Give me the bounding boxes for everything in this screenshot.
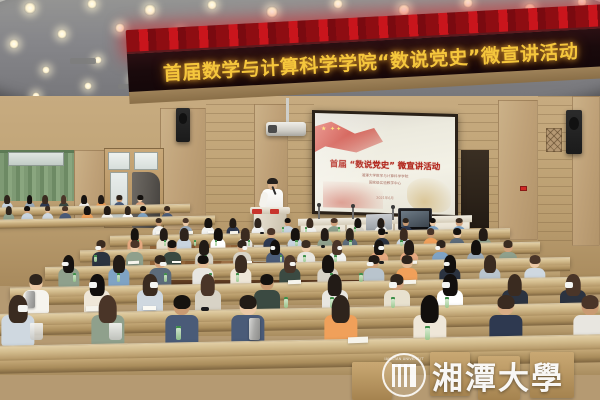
wall-grille	[546, 128, 562, 152]
water-bottle	[305, 227, 307, 233]
audience-hair	[507, 274, 522, 296]
face-mask	[442, 282, 450, 287]
audience-hair	[404, 240, 414, 255]
drink-cup	[109, 323, 122, 340]
flag-stars-icon: ★ ✦✦	[321, 125, 342, 133]
water-bottle	[359, 273, 362, 282]
downlight-icon	[115, 23, 125, 33]
audience-hair	[479, 228, 487, 241]
audience-hair	[5, 195, 11, 204]
notebook	[348, 337, 368, 344]
audience-hair	[267, 228, 275, 234]
audience-hair	[140, 206, 146, 211]
lectern-top	[250, 207, 290, 214]
audience-hair	[164, 206, 170, 211]
audience-hair	[254, 218, 261, 229]
projection-screen: ★ ✦✦ 首届 “数说党史” 微宣讲活动 湘潭大学数学与计算科学学院 国家级实验…	[315, 113, 455, 215]
face-mask	[435, 246, 440, 250]
audience-hair	[125, 206, 131, 216]
water-bottle	[176, 326, 181, 340]
desk-microphone	[392, 208, 394, 220]
face-mask	[379, 246, 384, 250]
ceiling-vent	[70, 58, 96, 64]
face-mask	[95, 246, 100, 250]
water-bottle	[303, 255, 306, 262]
auditorium-chair	[530, 352, 574, 398]
paper-sheet	[143, 306, 156, 310]
audience-hair	[62, 206, 68, 211]
desk-microphone	[318, 206, 320, 219]
face-mask	[337, 246, 342, 250]
face-mask	[242, 246, 247, 250]
audience-hair	[180, 228, 188, 241]
projector	[266, 122, 306, 136]
audience-hair	[306, 218, 313, 229]
audience-hair	[377, 218, 384, 229]
audience-hair	[27, 195, 33, 204]
audience-hair	[155, 218, 162, 223]
auditorium-chair	[352, 362, 392, 400]
audience-hair	[84, 206, 90, 216]
audience-member	[58, 256, 79, 288]
audience-hair	[420, 295, 439, 323]
wall-speaker	[176, 108, 190, 142]
face-mask	[290, 262, 297, 266]
water-bottle	[425, 326, 430, 340]
wall-window	[8, 152, 64, 166]
audience-hair	[322, 255, 334, 273]
thermos-cup	[249, 318, 261, 340]
face-mask	[367, 262, 374, 266]
desk-microphone	[352, 207, 354, 219]
notebook	[128, 260, 139, 264]
downlight-icon	[144, 4, 156, 16]
wall-speaker	[566, 110, 582, 154]
audience-hair	[173, 295, 190, 309]
water-bottle	[94, 255, 97, 262]
face-mask	[89, 282, 97, 287]
slide-title: 首届 “数说党史” 微宣讲活动	[315, 157, 455, 173]
audience-hair	[402, 218, 409, 223]
door-glass	[134, 152, 158, 170]
downlight-icon	[84, 82, 92, 90]
audience-hair	[205, 218, 212, 229]
downlight-icon	[24, 2, 36, 14]
audience-hair	[98, 295, 117, 323]
fire-alarm-icon	[520, 186, 527, 191]
audience-hair	[327, 274, 342, 296]
face-mask	[62, 262, 69, 266]
audience-hair	[401, 255, 412, 264]
audience-hair	[302, 240, 311, 247]
audience-hair	[331, 218, 338, 223]
audience-hair	[229, 218, 236, 229]
projector-lens-icon	[268, 125, 277, 133]
downlight-icon	[9, 39, 19, 49]
audience-hair	[453, 228, 461, 234]
water-bottle	[349, 240, 351, 246]
face-mask	[565, 282, 573, 287]
audience-hair	[198, 255, 209, 264]
water-bottle	[236, 273, 239, 282]
audience-hair	[130, 240, 139, 247]
paper-sheet	[172, 261, 181, 264]
auditorium-chair	[478, 356, 520, 400]
door-glass	[108, 152, 130, 170]
audience-member	[165, 296, 198, 346]
audience-hair	[497, 295, 514, 309]
auditorium-photo: 首届数学与计算科学学院“数说党史”微宣讲活动 ★ ✦✦ 首届 “数说党史” 微宣…	[0, 0, 600, 400]
face-mask	[389, 282, 397, 287]
water-bottle	[164, 273, 167, 282]
face-mask	[18, 305, 28, 312]
face-mask	[270, 246, 275, 250]
wall-slats	[288, 104, 314, 216]
downlight-icon	[266, 6, 278, 18]
downlight-icon	[42, 66, 50, 74]
audience-hair	[529, 255, 540, 264]
audience-hair	[24, 206, 30, 211]
audience-hair	[582, 295, 599, 309]
audience-hair	[182, 218, 189, 223]
audience-hair	[81, 195, 87, 204]
audience-hair	[5, 206, 11, 216]
audience-hair	[168, 240, 177, 247]
audience-hair	[331, 295, 350, 323]
wall-panel	[498, 100, 538, 240]
mobile-phone	[321, 245, 326, 247]
audience-hair	[427, 228, 435, 234]
water-bottle	[391, 297, 395, 308]
downlight-icon	[207, 0, 217, 10]
water-bottle	[73, 273, 76, 282]
lectern-card	[270, 209, 279, 214]
mobile-phone	[201, 307, 209, 311]
drink-cup	[30, 323, 43, 340]
audience-hair	[113, 255, 125, 273]
audience-hair	[456, 218, 463, 223]
audience-hair	[45, 206, 51, 211]
audience-hair	[201, 274, 216, 296]
audience-hair	[104, 206, 110, 216]
audience-hair	[29, 274, 42, 285]
presenter-hair	[267, 178, 278, 184]
audience-hair	[378, 228, 386, 234]
audience-hair	[484, 255, 496, 273]
audience-hair	[240, 295, 257, 309]
audience-hair	[320, 228, 328, 241]
lectern-card	[252, 209, 262, 214]
audience-hair	[98, 195, 104, 204]
water-bottle	[117, 273, 120, 282]
audience-hair	[471, 240, 481, 255]
projector-pole	[286, 98, 289, 124]
audience-hair	[429, 218, 436, 223]
face-mask	[150, 282, 158, 287]
audience-hair	[42, 195, 48, 204]
auditorium-chair	[430, 352, 470, 396]
water-bottle	[284, 297, 288, 308]
projection-screen-frame: ★ ✦✦ 首届 “数说党史” 微宣讲活动 湘潭大学数学与计算科学学院 国家级实验…	[312, 110, 458, 218]
downlight-icon	[57, 29, 67, 39]
audience-hair	[260, 274, 273, 285]
audience-hair	[235, 255, 247, 273]
audience-hair	[284, 218, 291, 223]
face-mask	[443, 262, 450, 266]
audience-hair	[504, 240, 513, 247]
audience-hair	[199, 240, 209, 255]
face-mask	[160, 262, 167, 266]
audience-hair	[61, 195, 67, 204]
